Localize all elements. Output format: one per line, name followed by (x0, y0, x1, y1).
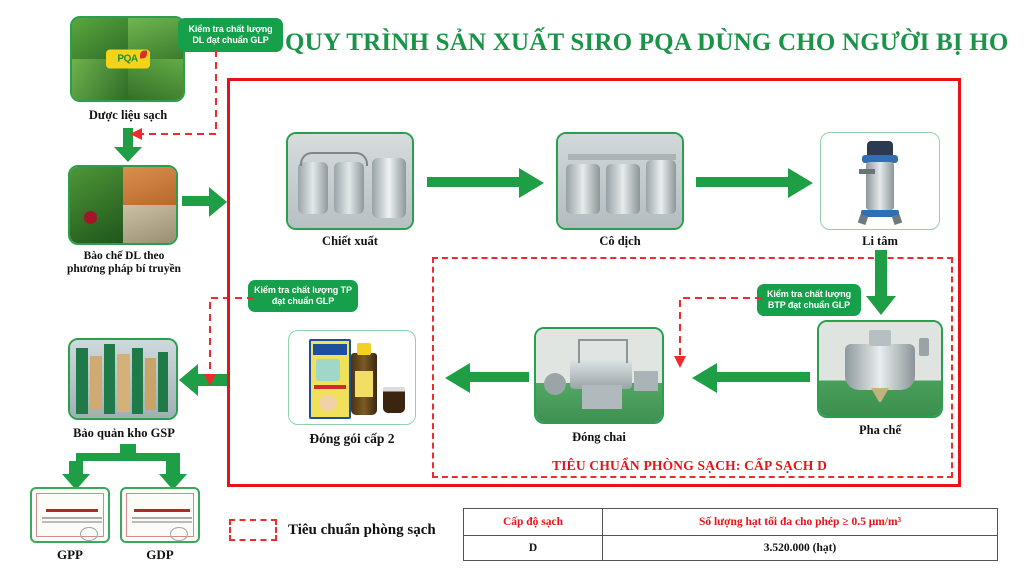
carton-face-graphic (319, 395, 337, 411)
caption-bao-quan-kho-gsp: Bảo quản kho GSP (58, 426, 190, 440)
carton-lung-graphic (316, 359, 340, 381)
dried-herb-quad (123, 205, 176, 243)
photo-certificate-gdp (120, 487, 200, 543)
cert-text-line-2 (42, 521, 102, 523)
product-carton (309, 339, 351, 419)
spec-cell-particles: 3.520.000 (hạt) (603, 536, 998, 561)
arrow-right-into-cleanroom (182, 185, 228, 219)
concentration-tank-3 (646, 160, 676, 214)
photo-certificate-gpp (30, 487, 110, 543)
spec-table-header-row: Cấp độ sạch Số lượng hạt tối đa cho phép… (464, 509, 998, 536)
badge-qc-duoc-lieu-line1: Kiểm tra chất lượng (188, 24, 272, 35)
spec-cell-level: D (464, 536, 603, 561)
bottle-label (355, 371, 373, 397)
dosing-cup (383, 387, 405, 413)
extraction-tank-1 (298, 162, 328, 214)
centrifuge-leg-2 (892, 214, 902, 225)
cert-title-line-1 (46, 509, 98, 512)
caption-dong-goi-cap-2: Đóng gói cấp 2 (288, 432, 416, 446)
dried-root-quad (123, 167, 176, 205)
mixing-tank-body (845, 344, 915, 390)
caption-bao-che-dl: Bào chế DL theo phương pháp bí truyền (48, 250, 200, 276)
cert-title-line-2 (134, 509, 190, 512)
product-bottle (351, 353, 377, 415)
badge-qc-duoc-lieu: Kiểm tra chất lượng DL đạt chuẩn GLP (178, 18, 283, 52)
arrow-fork-to-certificates (52, 444, 204, 490)
photo-li-tam (820, 132, 940, 230)
bottle-cap (357, 343, 371, 355)
cert-text-line-1 (42, 517, 102, 519)
extraction-pipe (300, 152, 368, 166)
photo-bao-che-dl (68, 165, 178, 245)
caption-dong-chai: Đóng chai (534, 430, 664, 444)
arrow-co-dich-to-li-tam (696, 166, 814, 200)
arrow-chiet-xuat-to-co-dich (427, 166, 545, 200)
box-stack-1 (90, 356, 102, 410)
photo-co-dich (556, 132, 684, 230)
rack-4 (158, 352, 168, 412)
rack-2 (104, 344, 115, 414)
arrow-pha-che-to-dong-chai (690, 361, 810, 395)
control-panel (919, 338, 929, 356)
bottling-frame (578, 339, 628, 363)
concentration-pipe (568, 154, 676, 160)
infographic-root: QUY TRÌNH SẢN XUẤT SIRO PQA DÙNG CHO NGƯ… (0, 0, 1024, 576)
caption-chiet-xuat: Chiết xuất (286, 234, 414, 248)
cleanroom-banner-label: TIÊU CHUẨN PHÒNG SẠCH: CẤP SẠCH D (552, 458, 827, 474)
mixing-tank-lid (869, 330, 891, 346)
concentration-tank-2 (606, 164, 640, 214)
extraction-tank-2 (334, 162, 364, 214)
photo-pha-che (817, 320, 943, 418)
spec-table-row: D 3.520.000 (hạt) (464, 536, 998, 561)
rack-3 (132, 348, 143, 414)
photo-dong-goi-cap-2 (288, 330, 416, 425)
dashed-connector-qc-duoc-lieu (126, 50, 222, 142)
arrow-li-tam-to-pha-che (864, 250, 898, 316)
cert-text-line-3 (132, 517, 192, 519)
caption-li-tam: Li tâm (820, 234, 940, 248)
centrifuge-spout (859, 169, 875, 174)
box-stack-2 (117, 354, 130, 412)
bottling-wheel (544, 373, 566, 395)
centrifuge-leg-1 (858, 214, 868, 225)
carton-red-band (314, 385, 346, 389)
photo-bao-quan-kho-gsp (68, 338, 178, 420)
cert-seal-1 (80, 527, 98, 541)
caption-gdp: GDP (120, 548, 200, 562)
arrow-dong-chai-to-dong-goi (443, 361, 529, 395)
legend-dashed-swatch (229, 519, 277, 541)
spec-header-level: Cấp độ sạch (464, 509, 603, 536)
badge-qc-duoc-lieu-line2: DL đạt chuẩn GLP (192, 35, 268, 46)
caption-co-dich: Cô dịch (556, 234, 684, 248)
page-title: QUY TRÌNH SẢN XUẤT SIRO PQA DÙNG CHO NGƯ… (285, 29, 1009, 57)
berry-icon (84, 211, 97, 224)
caption-gpp: GPP (30, 548, 110, 562)
box-stack-3 (145, 358, 156, 410)
carton-top-band (313, 344, 347, 355)
cert-text-line-4 (132, 521, 192, 523)
caption-pha-che: Pha chế (817, 423, 943, 437)
concentration-tank-1 (566, 164, 600, 214)
photo-chiet-xuat (286, 132, 414, 230)
photo-dong-chai (534, 327, 664, 424)
extraction-tank-3 (372, 158, 406, 218)
spec-table: Cấp độ sạch Số lượng hạt tối đa cho phép… (463, 508, 998, 561)
spec-header-particles: Số lượng hạt tối đa cho phép ≥ 0.5 μm/m³ (603, 509, 998, 536)
bottling-base (582, 385, 622, 409)
herb-plant-half (70, 167, 123, 243)
cert-seal-2 (170, 527, 188, 541)
bottling-outfeed (634, 371, 658, 391)
legend-label: Tiêu chuẩn phòng sạch (288, 522, 436, 539)
rack-1 (76, 348, 88, 414)
